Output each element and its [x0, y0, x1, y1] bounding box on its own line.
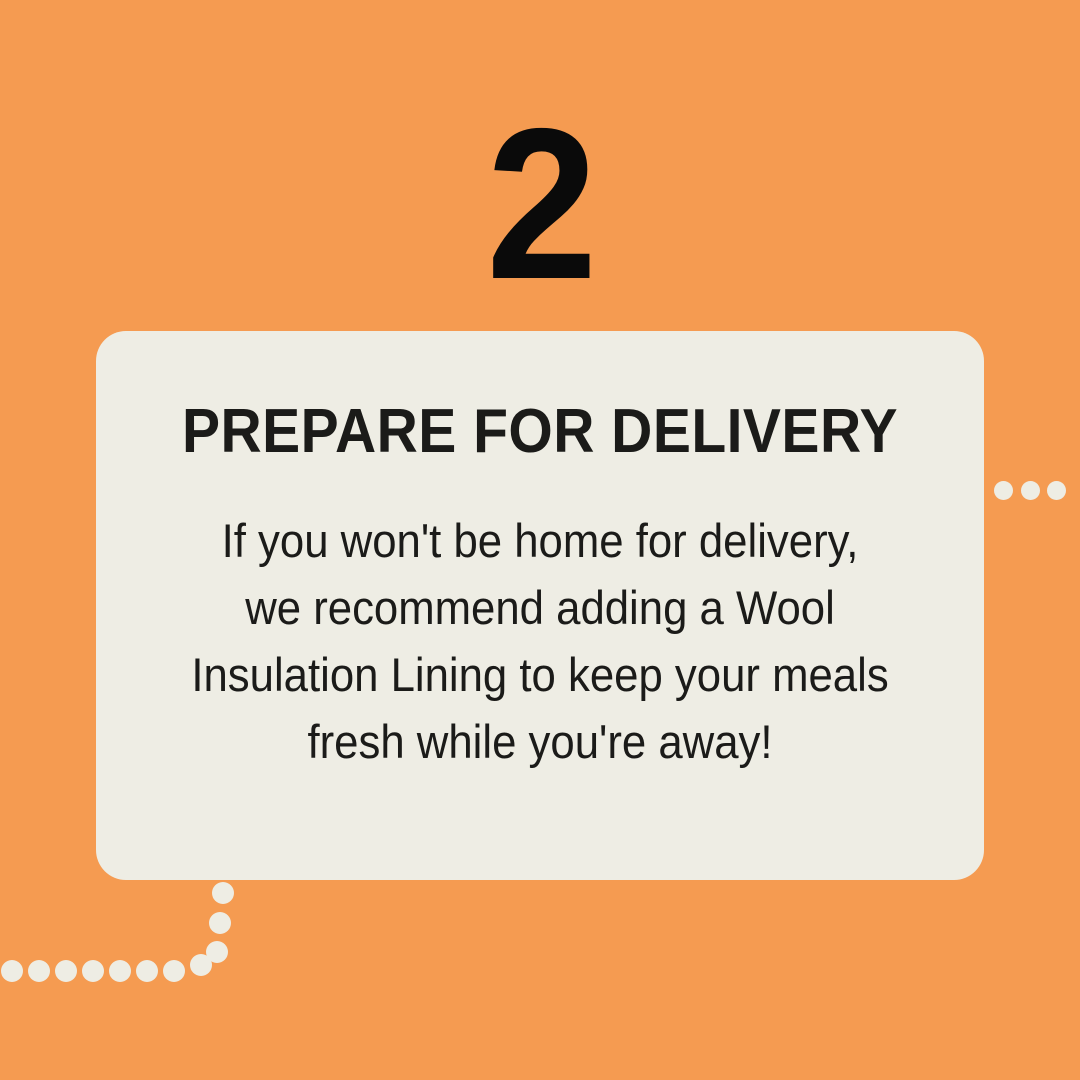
poster-canvas: 2 PREPARE FOR DELIVERY If you won't be h…	[0, 0, 1080, 1080]
path-dot-h4	[82, 960, 104, 982]
path-dot-h3	[109, 960, 131, 982]
path-dot-h2	[136, 960, 158, 982]
card-body-text: If you won't be home for delivery, we re…	[175, 463, 904, 775]
body-line-1: If you won't be home for delivery,	[175, 507, 904, 574]
body-line-4: fresh while you're away!	[175, 708, 904, 775]
path-dot-h7	[1, 960, 23, 982]
right-dot-2	[1021, 481, 1040, 500]
body-line-2: we recommend adding a Wool	[175, 574, 904, 641]
right-dot-1	[994, 481, 1013, 500]
body-line-3: Insulation Lining to keep your meals	[175, 641, 904, 708]
path-dot-h5	[55, 960, 77, 982]
path-dot-h1	[163, 960, 185, 982]
path-dot-h6	[28, 960, 50, 982]
path-dot-v2	[209, 912, 231, 934]
info-card: PREPARE FOR DELIVERY If you won't be hom…	[96, 331, 984, 880]
card-title: PREPARE FOR DELIVERY	[179, 401, 900, 463]
step-number: 2	[38, 96, 1042, 311]
path-dot-v1	[212, 882, 234, 904]
path-dot-diag	[190, 954, 212, 976]
right-dot-3	[1047, 481, 1066, 500]
